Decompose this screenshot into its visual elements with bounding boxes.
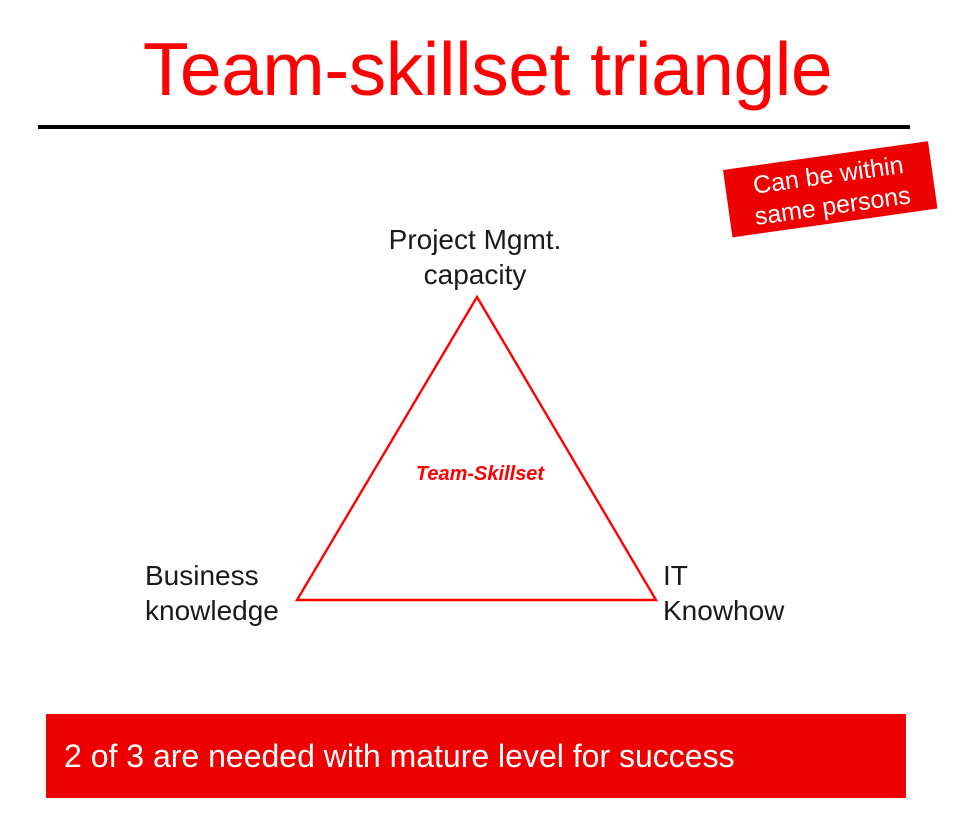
vertex-label-business-knowledge-line1: Business [145,558,279,593]
vertex-label-business-knowledge-line2: knowledge [145,593,279,628]
vertex-label-it-knowhow-line2: Knowhow [663,593,784,628]
vertex-label-business-knowledge: Business knowledge [145,558,279,628]
vertex-label-project-mgmt: Project Mgmt. capacity [325,222,625,292]
vertex-label-it-knowhow: IT Knowhow [663,558,784,628]
slide-canvas: Team-skillset triangle Project Mgmt. cap… [0,0,975,831]
vertex-label-it-knowhow-line1: IT [663,558,784,593]
page-title: Team-skillset triangle [0,26,975,112]
vertex-label-project-mgmt-line2: capacity [325,257,625,292]
summary-banner: 2 of 3 are needed with mature level for … [46,714,906,798]
title-divider [38,125,910,129]
summary-banner-text: 2 of 3 are needed with mature level for … [46,737,735,775]
vertex-label-project-mgmt-line1: Project Mgmt. [325,222,625,257]
triangle-outline [297,297,656,600]
triangle-inner-label: Team-Skillset [330,462,630,486]
callout-note: Can be within same persons [723,141,937,237]
